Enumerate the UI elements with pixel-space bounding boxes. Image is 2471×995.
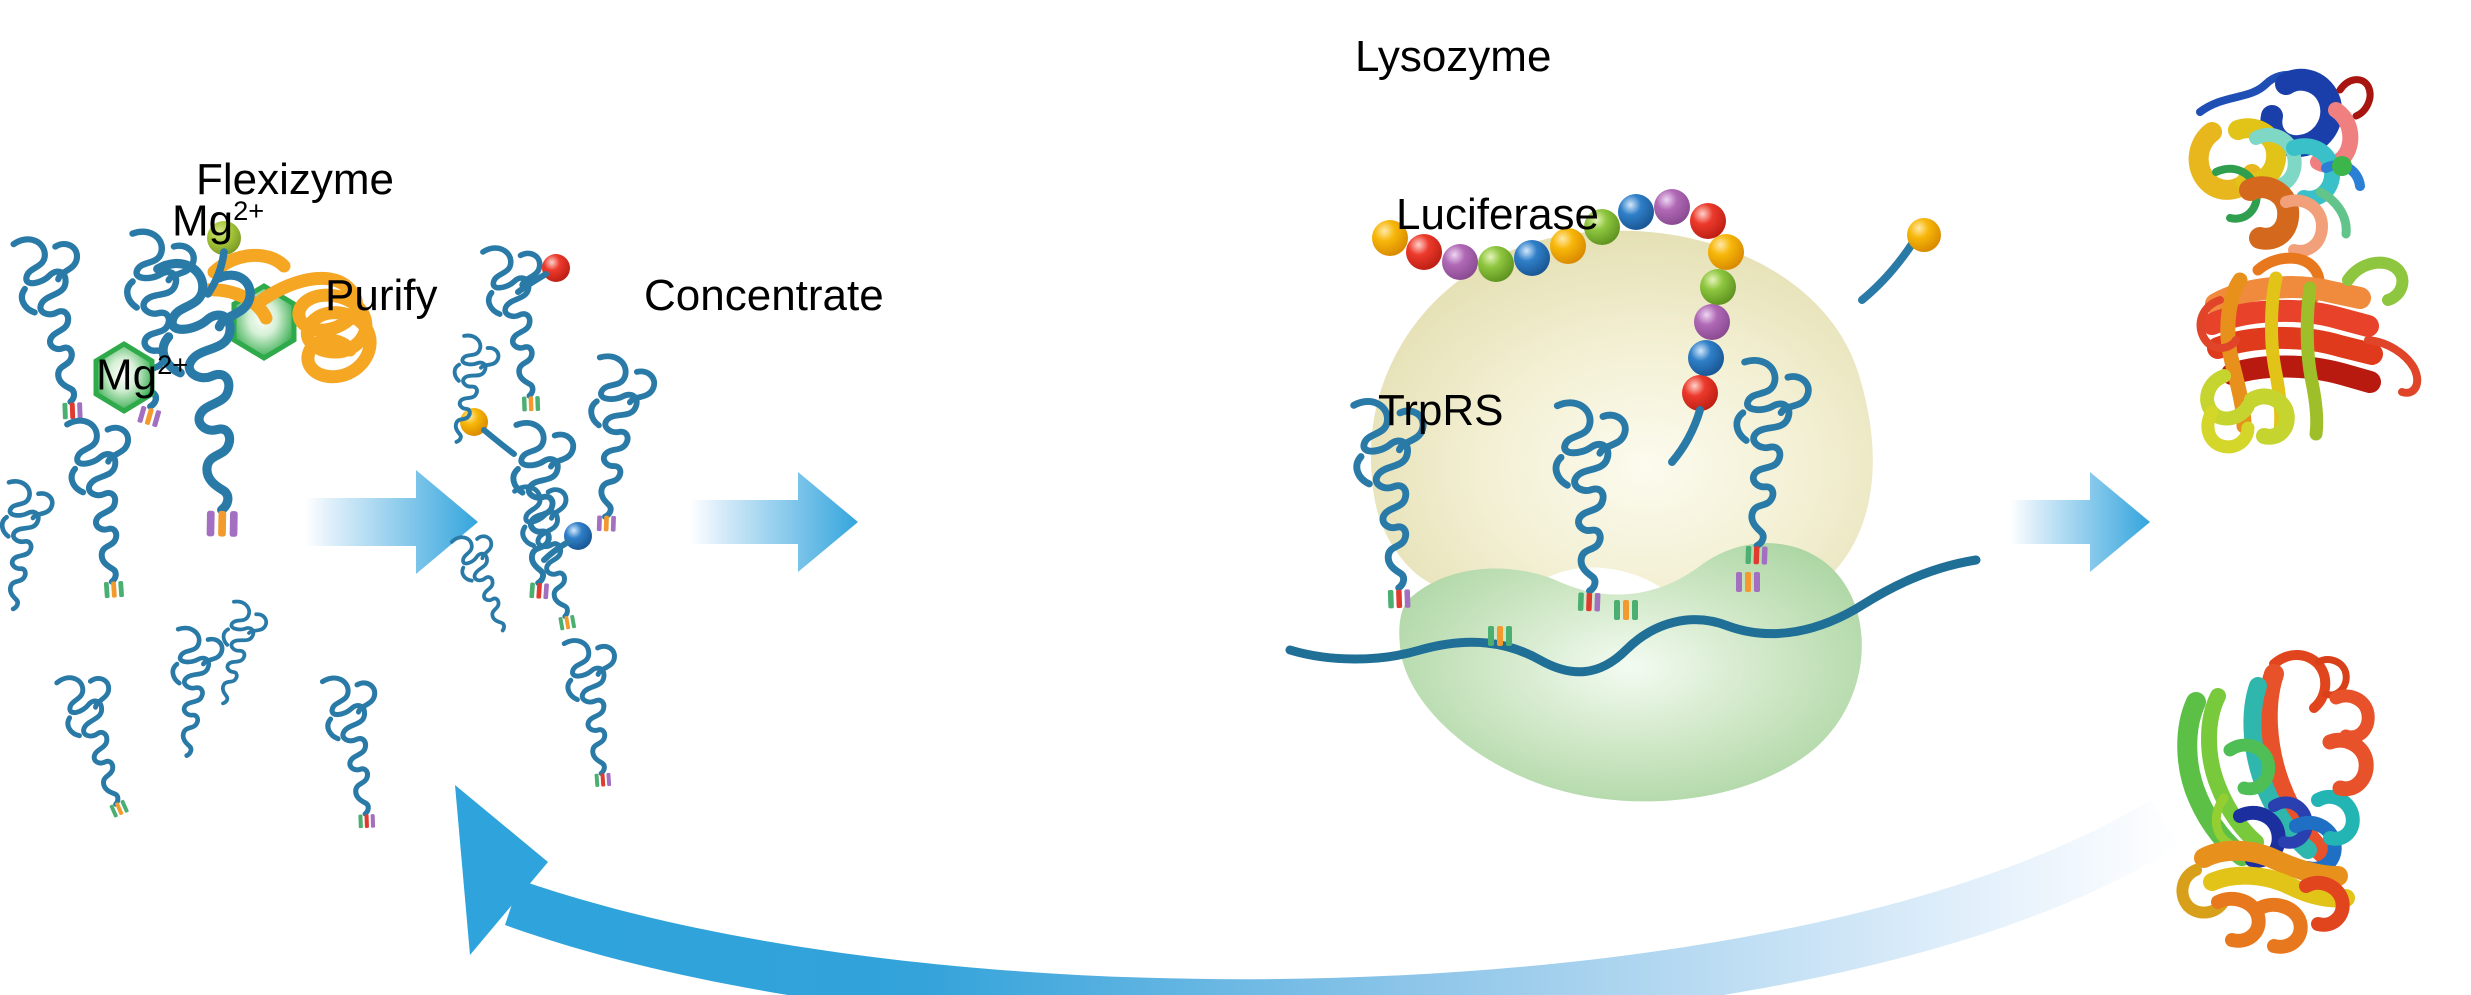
label-mg-upper-charge: 2+ <box>233 195 264 226</box>
acyl-group-blue <box>564 522 592 550</box>
label-mg-lower-base: Mg <box>96 351 157 400</box>
label-mg-lower-charge: 2+ <box>157 349 188 380</box>
label-mg-upper-base: Mg <box>172 197 233 246</box>
label-luciferase: Luciferase <box>1396 190 1599 240</box>
label-purify: Purify <box>325 271 437 321</box>
codon-tick-2 <box>1614 600 1638 620</box>
concentrate-arrow <box>690 472 858 572</box>
label-trprs: TrpRS <box>1378 386 1504 436</box>
protein-structure-lysozyme <box>2199 75 2370 251</box>
acyl-group-red <box>542 254 570 282</box>
label-lysozyme: Lysozyme <box>1355 32 1551 82</box>
protein-structure-trprs <box>2182 655 2368 947</box>
purify-arrow <box>305 470 478 574</box>
translation-complex <box>1290 189 1976 801</box>
figure-canvas: Flexizyme Mg2+ Mg2+ Purify Concentrate L… <box>0 0 2471 995</box>
ribosome-small-subunit <box>1399 543 1862 801</box>
label-concentrate: Concentrate <box>644 271 884 321</box>
protein-structure-luciferase <box>2201 258 2418 447</box>
incoming-acyl-orange <box>1907 218 1941 252</box>
label-mg-lower: Mg2+ <box>96 349 188 401</box>
products-arrow <box>2010 472 2150 572</box>
flexizyme-trna-complex <box>157 221 370 540</box>
codon-tick-1 <box>1488 626 1512 646</box>
label-mg-upper: Mg2+ <box>172 195 264 247</box>
recycle-arrow <box>455 785 2180 995</box>
illustration-layer <box>0 0 2471 995</box>
codon-tick-3 <box>1736 572 1760 592</box>
